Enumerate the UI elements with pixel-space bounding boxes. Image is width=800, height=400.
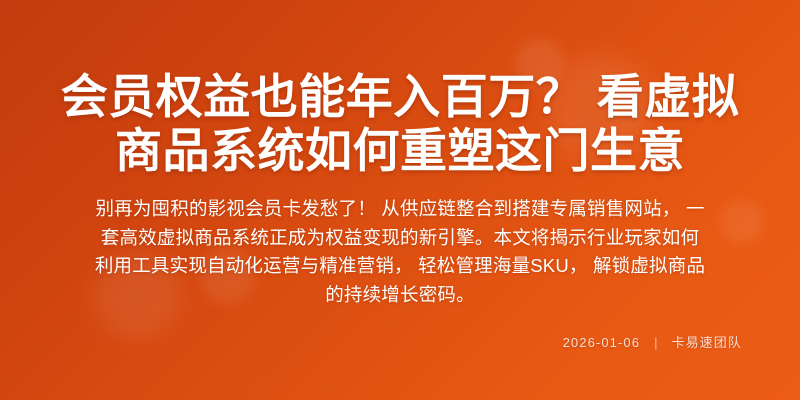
summary-line-3: 利用工具实现自动化运营与精准营销， 轻松管理海量SKU， 解锁虚拟商品 <box>72 252 728 281</box>
summary-line-4: 的持续增长密码。 <box>72 281 728 310</box>
meta-separator: | <box>640 334 671 352</box>
summary-line-2: 套高效虚拟商品系统正成为权益变现的新引擎。本文将揭示行业玩家如何 <box>72 224 728 253</box>
article-cover-banner: 会员权益也能年入百万？ 看虚拟 商品系统如何重塑这门生意 别再为囤积的影视会员卡… <box>0 0 800 400</box>
page-title: 会员权益也能年入百万？ 看虚拟 商品系统如何重塑这门生意 <box>30 70 770 178</box>
author-name: 卡易速团队 <box>671 334 742 352</box>
title-line-2: 商品系统如何重塑这门生意 <box>30 124 770 178</box>
banner-meta: 2026-01-06 | 卡易速团队 <box>30 334 770 352</box>
publish-date: 2026-01-06 <box>563 334 641 352</box>
banner-content: 会员权益也能年入百万？ 看虚拟 商品系统如何重塑这门生意 别再为囤积的影视会员卡… <box>0 0 800 400</box>
article-summary: 别再为囤积的影视会员卡发愁了！ 从供应链整合到搭建专属销售网站， 一 套高效虚拟… <box>30 195 770 309</box>
title-line-1: 会员权益也能年入百万？ 看虚拟 <box>30 70 770 124</box>
summary-line-1: 别再为囤积的影视会员卡发愁了！ 从供应链整合到搭建专属销售网站， 一 <box>72 195 728 224</box>
